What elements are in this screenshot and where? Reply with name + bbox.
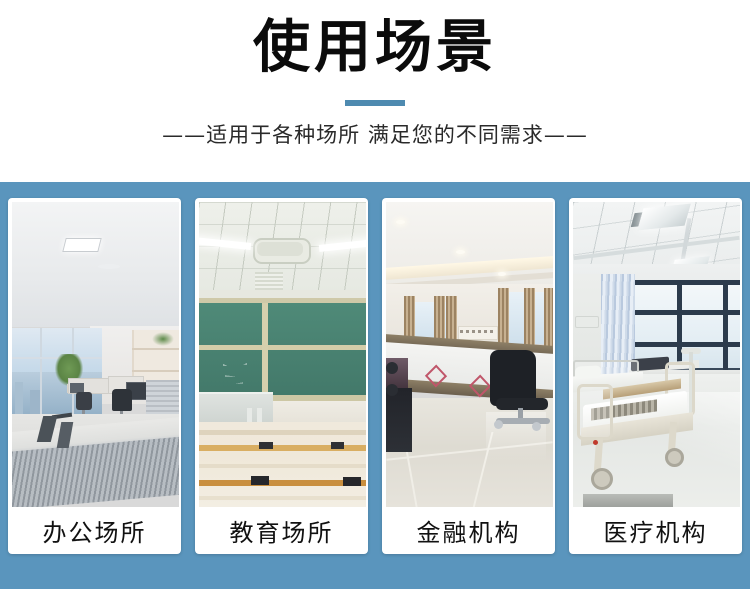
scenario-label-finance: 金融机构 xyxy=(386,507,551,554)
hospital-floor-fixture xyxy=(583,494,673,507)
scenario-card-medical[interactable]: 医疗机构 xyxy=(569,198,742,554)
hospital-bed-caster xyxy=(665,448,684,467)
bank-wall-sign xyxy=(458,326,498,340)
hospital-window-frame xyxy=(723,280,728,372)
office-panel-light xyxy=(62,238,101,252)
office-spot-light xyxy=(98,264,120,269)
classroom-board-frame xyxy=(262,303,268,395)
classroom-desk-fixture xyxy=(259,442,273,449)
scenarios-band: 办公场所 xyxy=(0,182,750,589)
hospital-wall-dispenser xyxy=(575,316,599,328)
page-header: 使用场景 ——适用于各种场所 满足您的不同需求—— xyxy=(0,0,750,182)
scenario-card-list: 办公场所 xyxy=(8,198,742,554)
bank-downlight xyxy=(498,272,506,276)
classroom-vent xyxy=(255,272,283,290)
classroom-desk-row xyxy=(199,480,366,486)
bank-curtain xyxy=(498,288,509,346)
hospital-photo xyxy=(573,202,740,507)
scenario-card-finance[interactable]: 金融机构 xyxy=(382,198,555,554)
bank-downlight xyxy=(396,220,405,224)
hospital-window-frame xyxy=(677,280,682,372)
classroom-board-frame xyxy=(199,345,366,350)
title-divider xyxy=(345,100,405,106)
classroom-desk-fixture xyxy=(331,442,344,449)
hospital-bed-caster xyxy=(591,468,613,490)
office-shelf-row xyxy=(132,370,179,372)
bank-kiosk-knob xyxy=(386,384,398,396)
office-ceiling xyxy=(12,202,179,327)
classroom-beam xyxy=(199,290,366,298)
bank-kiosk-knob xyxy=(386,362,398,374)
office-plant xyxy=(152,332,174,346)
hospital-privacy-curtain xyxy=(601,274,635,374)
office-photo xyxy=(12,202,179,507)
bank-downlight xyxy=(456,250,465,254)
scenario-label-education: 教育场所 xyxy=(199,507,364,554)
bank-curtain xyxy=(544,288,553,346)
bank-photo xyxy=(386,202,553,507)
scenario-label-medical: 医疗机构 xyxy=(573,507,738,554)
bank-wall-sign-text xyxy=(460,330,494,333)
classroom-desk-fixture xyxy=(343,477,361,486)
classroom-ceiling-unit-inner xyxy=(257,242,303,256)
classroom-desk-row xyxy=(199,464,366,468)
bank-chair-caster xyxy=(494,420,503,429)
classroom-photo xyxy=(199,202,366,507)
bank-curtain xyxy=(524,288,535,346)
page-title: 使用场景 xyxy=(253,14,497,80)
page-subtitle: ——适用于各种场所 满足您的不同需求—— xyxy=(162,123,588,147)
scenario-card-office[interactable]: 办公场所 xyxy=(8,198,181,554)
bank-chair-base xyxy=(496,418,550,424)
usage-scenarios-page: 使用场景 ——适用于各种场所 满足您的不同需求—— xyxy=(0,0,750,589)
hospital-bed-side-rail xyxy=(577,384,613,440)
office-window-mullion xyxy=(40,328,42,416)
classroom-desk-row xyxy=(199,496,366,500)
bank-chair-caster xyxy=(532,422,541,431)
hospital-bed-pillow xyxy=(575,365,601,378)
classroom-chalk-writing xyxy=(221,354,255,384)
bank-kiosk xyxy=(386,388,412,452)
office-shelf-row xyxy=(132,348,179,350)
classroom-desk-row xyxy=(199,430,366,435)
classroom-desk-fixture xyxy=(251,476,269,485)
scenario-card-education[interactable]: 教育场所 xyxy=(195,198,368,554)
hospital-bed-release-lever xyxy=(593,440,598,445)
scenario-label-office: 办公场所 xyxy=(12,507,177,554)
